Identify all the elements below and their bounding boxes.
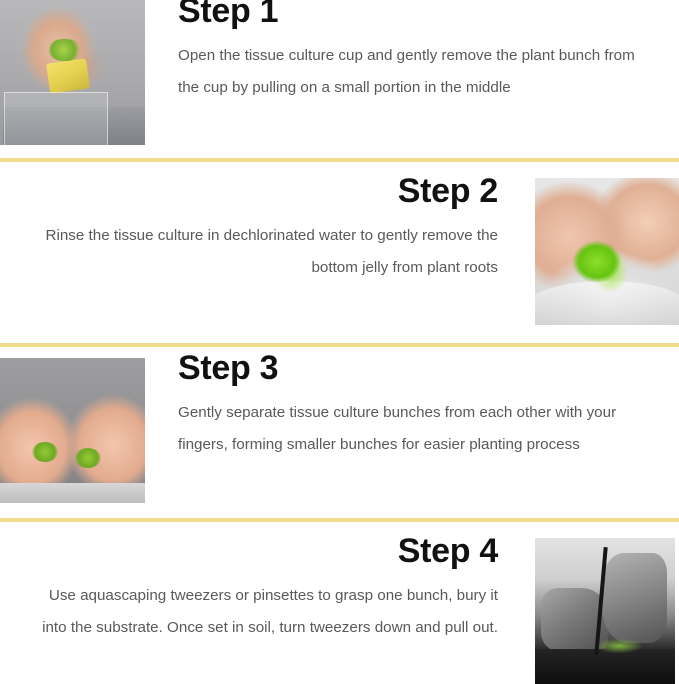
step-row-3: Step 3 Gently separate tissue culture bu… xyxy=(0,347,679,520)
step-4-photo xyxy=(535,538,675,684)
step-2-title: Step 2 xyxy=(40,174,498,208)
step-row-2: Step 2 Rinse the tissue culture in dechl… xyxy=(0,162,679,345)
step-1-text-block: Step 1 Open the tissue culture cup and g… xyxy=(178,0,638,104)
photo-detail-bunch-right xyxy=(75,448,101,468)
step-1-body: Open the tissue culture cup and gently r… xyxy=(178,40,638,104)
step-3-text-block: Step 3 Gently separate tissue culture bu… xyxy=(178,351,638,461)
step-row-4: Step 4 Use aquascaping tweezers or pinse… xyxy=(0,522,679,684)
step-1-title: Step 1 xyxy=(178,0,638,28)
step-1-photo xyxy=(0,0,145,145)
step-2-photo xyxy=(535,178,679,325)
step-row-1: Step 1 Open the tissue culture cup and g… xyxy=(0,0,679,160)
step-4-text-block: Step 4 Use aquascaping tweezers or pinse… xyxy=(40,534,498,644)
step-3-body: Gently separate tissue culture bunches f… xyxy=(178,397,638,461)
photo-detail-tissue-culture-cup xyxy=(46,58,90,93)
step-3-title: Step 3 xyxy=(178,351,638,385)
photo-detail-glass-tank xyxy=(4,92,108,145)
instruction-steps-infographic: Step 1 Open the tissue culture cup and g… xyxy=(0,0,679,684)
step-2-body: Rinse the tissue culture in dechlorinate… xyxy=(40,220,498,284)
step-4-body: Use aquascaping tweezers or pinsettes to… xyxy=(40,580,498,644)
step-3-photo xyxy=(0,358,145,503)
photo-detail-plant-bunch xyxy=(49,39,81,61)
step-2-text-block: Step 2 Rinse the tissue culture in dechl… xyxy=(40,174,498,284)
photo-detail-planted-sprout xyxy=(591,634,661,657)
photo-detail-table-surface xyxy=(0,483,145,503)
photo-detail-green-plant xyxy=(572,237,634,292)
step-4-title: Step 4 xyxy=(40,534,498,568)
photo-detail-rock-right xyxy=(602,553,666,644)
photo-detail-bunch-left xyxy=(32,442,58,462)
